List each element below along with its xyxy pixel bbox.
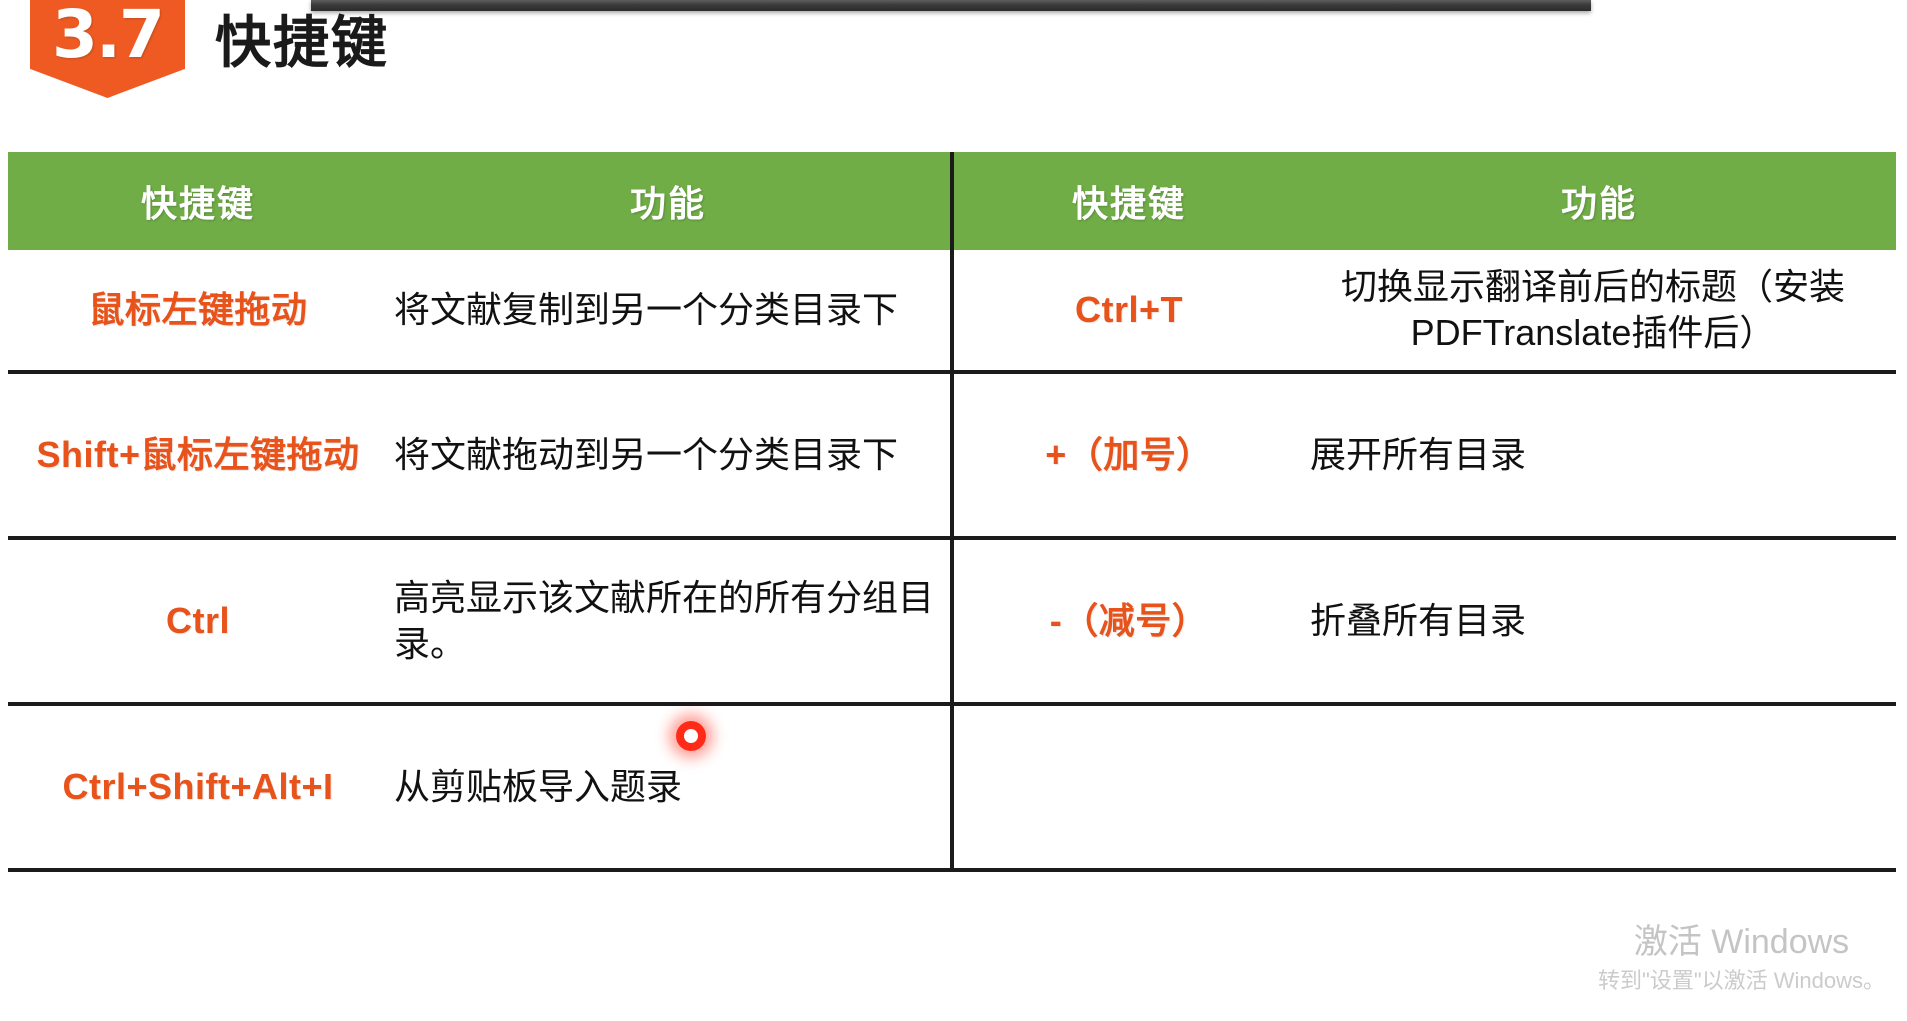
shortcut-function: 将文献复制到另一个分类目录下 bbox=[388, 287, 948, 333]
section-header: 3.7 快捷键 bbox=[0, 0, 1907, 120]
shortcut-key: Ctrl bbox=[8, 600, 388, 641]
shortcut-function: 切换显示翻译前后的标题（安装PDFTranslate插件后） bbox=[1304, 264, 1894, 356]
shortcut-table-left: 快捷键 功能 鼠标左键拖动 将文献复制到另一个分类目录下 Shift+鼠标左键拖… bbox=[8, 152, 950, 872]
table-row: Ctrl+Shift+Alt+I 从剪贴板导入题录 bbox=[8, 706, 950, 872]
shortcut-key: Shift+鼠标左键拖动 bbox=[8, 434, 388, 475]
column-header-function: 功能 bbox=[1304, 175, 1894, 227]
shortcut-key: 鼠标左键拖动 bbox=[8, 289, 388, 330]
shortcut-function: 折叠所有目录 bbox=[1304, 598, 1894, 644]
windows-activation-watermark: 激活 Windows 转到"设置"以激活 Windows。 bbox=[1598, 921, 1885, 996]
shortcut-table-right: 快捷键 功能 Ctrl+T 切换显示翻译前后的标题（安装PDFTranslate… bbox=[950, 152, 1896, 872]
table-row: Ctrl 高亮显示该文献所在的所有分组目录。 bbox=[8, 540, 950, 706]
table-row: -（减号） 折叠所有目录 bbox=[954, 540, 1896, 706]
section-number: 3.7 bbox=[52, 0, 163, 68]
table-row: Shift+鼠标左键拖动 将文献拖动到另一个分类目录下 bbox=[8, 374, 950, 540]
column-header-function: 功能 bbox=[388, 175, 948, 227]
shortcut-function: 将文献拖动到另一个分类目录下 bbox=[388, 432, 948, 478]
click-cursor-indicator bbox=[676, 721, 706, 751]
shortcut-function: 从剪贴板导入题录 bbox=[388, 764, 948, 810]
column-header-shortcut: 快捷键 bbox=[954, 175, 1304, 227]
section-number-badge: 3.7 bbox=[30, 0, 185, 98]
shortcut-key: -（减号） bbox=[954, 600, 1304, 641]
table-row: +（加号） 展开所有目录 bbox=[954, 374, 1896, 540]
shortcut-function: 高亮显示该文献所在的所有分组目录。 bbox=[388, 575, 948, 667]
shortcut-key: Ctrl+T bbox=[954, 289, 1304, 330]
watermark-subtitle: 转到"设置"以激活 Windows。 bbox=[1598, 967, 1885, 996]
shortcut-key: Ctrl+Shift+Alt+I bbox=[8, 766, 388, 807]
table-row: 鼠标左键拖动 将文献复制到另一个分类目录下 bbox=[8, 250, 950, 374]
page-title: 快捷键 bbox=[215, 12, 389, 74]
table-header-row-left: 快捷键 功能 bbox=[8, 152, 950, 250]
table-header-row-right: 快捷键 功能 bbox=[954, 152, 1896, 250]
watermark-title: 激活 Windows bbox=[1598, 921, 1885, 964]
shortcut-key: +（加号） bbox=[954, 434, 1304, 475]
table-row-empty bbox=[954, 706, 1896, 872]
table-row: Ctrl+T 切换显示翻译前后的标题（安装PDFTranslate插件后） bbox=[954, 250, 1896, 374]
shortcut-function: 展开所有目录 bbox=[1304, 432, 1894, 478]
column-header-shortcut: 快捷键 bbox=[8, 175, 388, 227]
shortcut-tables: 快捷键 功能 鼠标左键拖动 将文献复制到另一个分类目录下 Shift+鼠标左键拖… bbox=[8, 152, 1896, 872]
